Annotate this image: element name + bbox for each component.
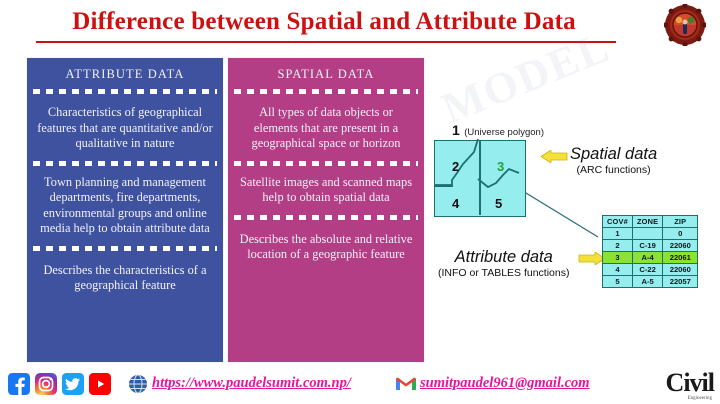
attribute-data-column: ATTRIBUTE DATA Characteristics of geogra…	[27, 58, 223, 362]
cell-cov: 4	[603, 264, 633, 276]
facebook-icon[interactable]	[8, 373, 30, 395]
divider	[33, 246, 217, 251]
social-links	[8, 373, 111, 395]
page-title: Difference between Spatial and Attribute…	[0, 8, 648, 36]
attribute-cell-3: Describes the characteristics of a geogr…	[27, 254, 223, 300]
institution-seal-icon	[664, 4, 706, 46]
universe-label-text: (Universe polygon)	[464, 127, 544, 138]
spatial-cell-1: All types of data objects or elements th…	[228, 97, 424, 158]
spatial-cell-2: Satellite images and scanned maps help t…	[228, 169, 424, 212]
website-link[interactable]: https://www.paudelsumit.com.np/	[152, 375, 351, 392]
cell-zone: A-5	[632, 276, 662, 288]
table-row: 5 A-5 22057	[603, 276, 698, 288]
spatial-data-arrow-icon	[540, 150, 568, 163]
cell-zip: 0	[663, 228, 698, 240]
gis-diagram: MODEL 1 (Universe polygon) 2 3 4 5	[430, 52, 718, 302]
cell-cov: 1	[603, 228, 633, 240]
cell-zip: 22057	[663, 276, 698, 288]
cell-zip: 22060	[663, 240, 698, 252]
divider	[33, 89, 217, 94]
slide-root: Difference between Spatial and Attribute…	[0, 0, 720, 404]
attribute-column-header: ATTRIBUTE DATA	[27, 58, 223, 86]
instagram-icon[interactable]	[35, 373, 57, 395]
globe-icon	[128, 374, 148, 394]
youtube-icon[interactable]	[89, 373, 111, 395]
map-arc-lines	[433, 139, 525, 216]
spatial-column-header: SPATIAL DATA	[228, 58, 424, 86]
attribute-data-subcaption: (INFO or TABLES functions)	[438, 267, 570, 279]
attribute-data-caption: Attribute data	[438, 248, 570, 267]
cell-zone	[632, 228, 662, 240]
twitter-icon[interactable]	[62, 373, 84, 395]
divider	[234, 89, 418, 94]
civil-brand-logo: Civil Engineering	[666, 368, 714, 398]
cell-zip: 22060	[663, 264, 698, 276]
spatial-data-caption: Spatial data	[570, 145, 657, 164]
universe-number: 1	[452, 122, 460, 138]
polygon-number-3: 3	[497, 159, 504, 174]
polygon-number-4: 4	[452, 196, 459, 211]
divider	[234, 161, 418, 166]
cell-zone: C-19	[632, 240, 662, 252]
polygon-map: 2 3 4 5	[434, 140, 526, 217]
table-row: 2 C-19 22060	[603, 240, 698, 252]
table-row: 4 C-22 22060	[603, 264, 698, 276]
table-header-zone: ZONE	[632, 216, 662, 228]
footer-bar: https://www.paudelsumit.com.np/ sumitpau…	[0, 370, 720, 404]
attribute-table: COV# ZONE ZIP 1 0 2 C-19 22060 3	[602, 215, 698, 288]
cell-cov: 2	[603, 240, 633, 252]
email-link[interactable]: sumitpaudel961@gmail.com	[420, 375, 590, 392]
civil-brand-text: Civil	[666, 368, 714, 397]
polygon-number-2: 2	[452, 159, 459, 174]
watermark-text: MODEL	[435, 21, 618, 134]
divider	[234, 215, 418, 220]
cell-zone: C-22	[632, 264, 662, 276]
gmail-icon	[396, 376, 416, 392]
universe-polygon-label: 1 (Universe polygon)	[452, 122, 544, 140]
attribute-cell-2: Town planning and management departments…	[27, 169, 223, 243]
attribute-data-callout: Attribute data (INFO or TABLES functions…	[438, 248, 570, 279]
civil-brand-sub: Engineering	[688, 396, 712, 401]
cell-zip: 22061	[663, 252, 698, 264]
cell-zone: A-4	[632, 252, 662, 264]
table-header-cov: COV#	[603, 216, 633, 228]
attribute-cell-1: Characteristics of geographical features…	[27, 97, 223, 158]
divider	[33, 161, 217, 166]
table-row: 1 0	[603, 228, 698, 240]
cell-cov: 3	[603, 252, 633, 264]
spatial-data-column: SPATIAL DATA All types of data objects o…	[228, 58, 424, 362]
title-underline	[36, 41, 616, 43]
table-row-highlighted: 3 A-4 22061	[603, 252, 698, 264]
spatial-data-subcaption: (ARC functions)	[570, 164, 657, 176]
spatial-data-callout: Spatial data (ARC functions)	[570, 145, 657, 176]
table-header-row: COV# ZONE ZIP	[603, 216, 698, 228]
table-header-zip: ZIP	[663, 216, 698, 228]
cell-cov: 5	[603, 276, 633, 288]
polygon-number-5: 5	[495, 196, 502, 211]
spatial-cell-3: Describes the absolute and relative loca…	[228, 223, 424, 269]
